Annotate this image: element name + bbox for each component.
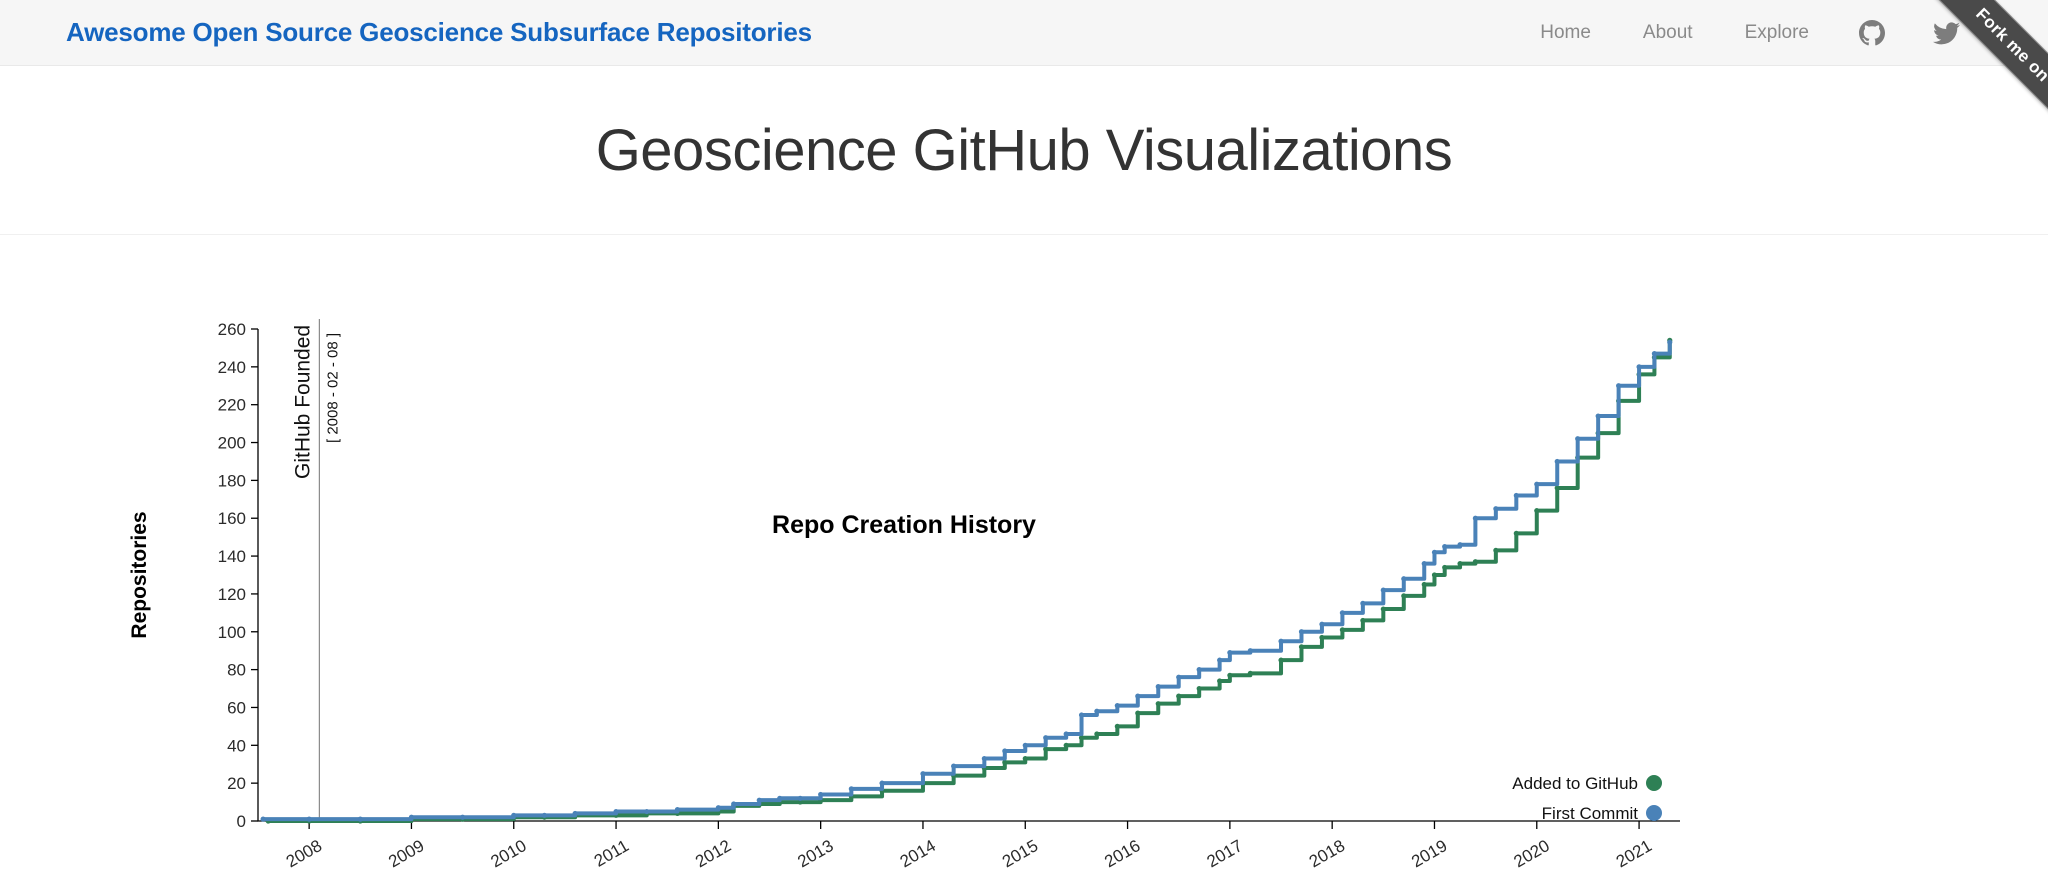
data-point [1667, 340, 1672, 345]
fork-me-ribbon-link[interactable]: Fork me on GitHub [1915, 0, 2048, 188]
data-point [1023, 756, 1028, 761]
data-point [1135, 694, 1140, 699]
data-point [1319, 635, 1324, 640]
data-point [1636, 364, 1641, 369]
y-tick-label: 160 [218, 509, 246, 528]
data-point [1043, 735, 1048, 740]
data-point [261, 817, 266, 822]
data-point [757, 798, 762, 803]
data-point [1248, 648, 1253, 653]
repo-creation-history-chart: 020406080100120140160180200220240260Repo… [0, 235, 2048, 878]
series-first-commit [261, 340, 1673, 822]
data-point [511, 813, 516, 818]
data-point [1596, 413, 1601, 418]
x-tick-label: 2008 [283, 836, 325, 871]
data-point [1457, 561, 1462, 566]
data-point [716, 805, 721, 810]
data-point [1575, 436, 1580, 441]
data-point [1401, 576, 1406, 581]
page-title: Geoscience GitHub Visualizations [596, 117, 1453, 184]
x-tick-label: 2020 [1511, 836, 1553, 871]
series-line [263, 342, 1670, 819]
data-point [1299, 644, 1304, 649]
data-point [1079, 712, 1084, 717]
data-point [1442, 544, 1447, 549]
y-tick-label: 200 [218, 434, 246, 453]
data-point [542, 813, 547, 818]
data-point [1319, 622, 1324, 627]
x-tick-label: 2017 [1204, 836, 1246, 871]
axis-spines [258, 329, 1680, 821]
y-tick-label: 140 [218, 547, 246, 566]
data-point [307, 817, 312, 822]
data-point [1493, 548, 1498, 553]
x-tick-label: 2021 [1613, 836, 1655, 871]
data-point [879, 781, 884, 786]
data-point [1094, 709, 1099, 714]
data-point [1442, 565, 1447, 570]
data-point [1115, 703, 1120, 708]
data-point [1135, 711, 1140, 716]
x-tick-label: 2010 [487, 836, 529, 871]
x-tick-label: 2013 [794, 836, 836, 871]
data-point [1340, 610, 1345, 615]
x-tick-label: 2011 [591, 836, 632, 871]
data-point [1514, 531, 1519, 536]
data-point [920, 771, 925, 776]
data-point [1340, 627, 1345, 632]
y-tick-label: 240 [218, 358, 246, 377]
data-point [1197, 686, 1202, 691]
x-tick-label: 2009 [385, 836, 427, 871]
data-point [573, 811, 578, 816]
x-tick-label: 2019 [1408, 836, 1450, 871]
data-point [644, 809, 649, 814]
legend-marker [1646, 805, 1662, 821]
data-point [1473, 559, 1478, 564]
y-tick-label: 120 [218, 585, 246, 604]
data-point [1473, 516, 1478, 521]
data-point [1227, 673, 1232, 678]
x-tick-label: 2018 [1306, 836, 1348, 871]
data-point [1023, 743, 1028, 748]
data-point [1652, 351, 1657, 356]
page-header: Geoscience GitHub Visualizations [0, 66, 2048, 235]
data-point [798, 796, 803, 801]
x-tick-label: 2012 [692, 836, 734, 871]
data-point [1401, 593, 1406, 598]
fork-me-ribbon: Fork me on GitHub [1848, 0, 2048, 200]
data-point [1278, 639, 1283, 644]
github-founded-date-label: [ 2008 - 02 - 08 ] [324, 333, 341, 443]
data-point [1064, 731, 1069, 736]
data-point [358, 817, 363, 822]
series-line [268, 340, 1670, 821]
data-point [460, 815, 465, 820]
github-founded-label: GitHub Founded [291, 325, 314, 479]
nav-link-home[interactable]: Home [1514, 22, 1617, 44]
y-tick-label: 100 [218, 623, 246, 642]
data-point [1217, 678, 1222, 683]
chart-container: Repo Creation History 020406080100120140… [0, 235, 2048, 878]
data-point [777, 796, 782, 801]
data-point [409, 815, 414, 820]
data-point [1493, 506, 1498, 511]
y-tick-label: 220 [218, 396, 246, 415]
data-point [982, 756, 987, 761]
legend-marker [1646, 775, 1662, 791]
navbar: Awesome Open Source Geoscience Subsurfac… [0, 0, 2048, 66]
data-point [613, 809, 618, 814]
y-tick-label: 260 [218, 320, 246, 339]
y-tick-label: 20 [227, 774, 246, 793]
data-point [849, 786, 854, 791]
y-tick-label: 0 [237, 812, 246, 831]
data-point [951, 764, 956, 769]
data-point [1156, 701, 1161, 706]
data-point [1217, 658, 1222, 663]
legend-label: Added to GitHub [1512, 774, 1638, 793]
data-point [1432, 572, 1437, 577]
x-tick-label: 2014 [897, 836, 939, 871]
data-point [1422, 582, 1427, 587]
data-point [1432, 550, 1437, 555]
data-point [1248, 671, 1253, 676]
data-point [1381, 606, 1386, 611]
data-point [1457, 542, 1462, 547]
data-point [1176, 675, 1181, 680]
series-added-to-github [266, 338, 1673, 824]
data-point [1555, 459, 1560, 464]
data-point [1002, 748, 1007, 753]
y-tick-label: 180 [218, 471, 246, 490]
data-point [1115, 724, 1120, 729]
nav-link-about[interactable]: About [1617, 22, 1719, 44]
data-point [1381, 588, 1386, 593]
data-point [731, 801, 736, 806]
data-point [675, 807, 680, 812]
nav-link-explore[interactable]: Explore [1719, 22, 1835, 44]
y-tick-label: 80 [227, 661, 246, 680]
data-point [1156, 684, 1161, 689]
x-tick-label: 2015 [999, 836, 1041, 871]
data-point [1064, 743, 1069, 748]
data-point [1176, 694, 1181, 699]
data-point [1422, 561, 1427, 566]
data-point [1278, 658, 1283, 663]
y-tick-label: 40 [227, 736, 246, 755]
y-tick-label: 60 [227, 698, 246, 717]
data-point [1360, 601, 1365, 606]
data-point [1094, 731, 1099, 736]
legend-label: First Commit [1542, 804, 1639, 823]
data-point [818, 792, 823, 797]
data-point [1360, 618, 1365, 623]
data-point [1197, 667, 1202, 672]
data-point [1534, 508, 1539, 513]
navbar-brand[interactable]: Awesome Open Source Geoscience Subsurfac… [66, 17, 812, 48]
data-point [1227, 650, 1232, 655]
x-tick-label: 2016 [1101, 836, 1143, 871]
data-point [1616, 383, 1621, 388]
data-point [1534, 482, 1539, 487]
data-point [1514, 493, 1519, 498]
y-axis-label: Repositories [128, 511, 151, 638]
data-point [1299, 629, 1304, 634]
